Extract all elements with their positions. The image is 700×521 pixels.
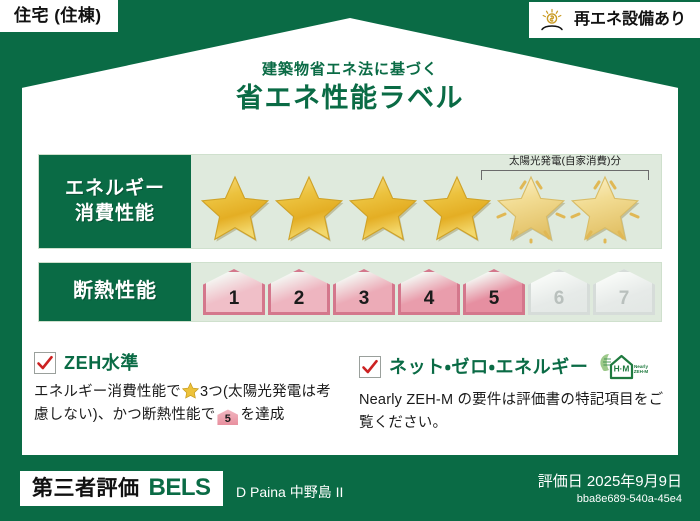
energy-rating-area: 太陽光発電(自家消費)分 <box>191 155 661 248</box>
bels-jp-label: 第三者評価 <box>32 478 140 499</box>
renewable-badge-label: 再エネ設備あり <box>574 12 686 28</box>
net-zero-title: ネット・ゼロ・エネルギー <box>389 358 588 376</box>
check-icon <box>35 353 55 373</box>
zeh-standard-note: ZEH水準 エネルギー消費性能で3つ(太陽光発電は考慮しない)、かつ断熱性能で5… <box>34 352 341 436</box>
net-zero-checkbox <box>359 356 381 378</box>
title-subtitle: 建築物省エネ法に基づく <box>0 62 700 79</box>
insulation-level-active: 3 <box>333 269 395 315</box>
zeh-standard-checkbox <box>34 352 56 374</box>
insulation-performance-label-box: 断熱性能 <box>39 263 191 321</box>
check-icon <box>360 357 380 377</box>
title-main: 省エネ性能ラベル <box>0 82 700 116</box>
evaluation-date: 評価日 2025年9月9日 <box>538 473 682 491</box>
project-name: D Paina 中野島 II <box>236 485 343 499</box>
insulation-label: 断熱性能 <box>73 279 157 305</box>
star-icon-filled <box>347 174 419 244</box>
energy-label-line1: エネルギー <box>65 177 165 201</box>
zeh-star-count: 3つ <box>200 384 223 400</box>
zeh-standard-text: エネルギー消費性能で3つ(太陽光発電は考慮しない)、かつ断熱性能で5を達成 <box>34 381 341 428</box>
insulation-level-inactive: 6 <box>528 269 590 315</box>
svg-text:ZEH-M: ZEH-M <box>634 369 649 374</box>
zeh-text-c: を達成 <box>240 407 284 423</box>
energy-performance-row: エネルギー 消費性能 太陽光発電(自家消費)分 <box>38 154 662 249</box>
star-icon-filled <box>199 174 271 244</box>
insulation-level-active: 1 <box>203 269 265 315</box>
zeh-standard-title: ZEH水準 <box>64 354 139 372</box>
insulation-level-active: 5 <box>463 269 525 315</box>
zeh-standard-heading: ZEH水準 <box>34 352 341 374</box>
insulation-performance-row: 断熱性能 1234567 <box>38 262 662 322</box>
bels-en-label: BELS <box>149 476 211 500</box>
evaluation-info: 評価日 2025年9月9日 bba8e689-540a-45e4 <box>538 473 682 506</box>
net-zero-heading: ネット・ゼロ・エネルギー H·M Nearly ZEH-M <box>359 352 666 382</box>
zeh-text-a: エネルギー消費性能で <box>34 384 181 400</box>
insulation-level-group: 1234567 <box>191 263 661 321</box>
svg-text:H·M: H·M <box>614 364 630 374</box>
star-icon-filled <box>421 174 493 244</box>
label-title-block: 建築物省エネ法に基づく 省エネ性能ラベル <box>0 62 700 115</box>
inline-insulation-chip: 5 <box>217 409 238 425</box>
insulation-rating-area: 1234567 <box>191 263 661 321</box>
notes-section: ZEH水準 エネルギー消費性能で3つ(太陽光発電は考慮しない)、かつ断熱性能で5… <box>34 352 666 436</box>
insulation-level-inactive: 7 <box>593 269 655 315</box>
house-type-tag: 住宅 (住棟) <box>0 0 118 32</box>
energy-label-line2: 消費性能 <box>75 202 155 226</box>
inline-star-icon <box>182 382 199 399</box>
star-icon-solar <box>569 174 641 244</box>
solar-portion-caption: 太陽光発電(自家消費)分 <box>479 156 651 168</box>
renewable-energy-badge: 再エネ設備あり <box>529 2 700 38</box>
label-footer: 第三者評価 BELS D Paina 中野島 II 評価日 2025年9月9日 … <box>0 459 700 521</box>
evaluation-id: bba8e689-540a-45e4 <box>538 493 682 506</box>
energy-performance-label: 住宅 (住棟) 再エネ設備あり 建築物省エネ法に基づく 省エネ性能ラベル エネル… <box>0 0 700 521</box>
net-zero-energy-note: ネット・ゼロ・エネルギー H·M Nearly ZEH-M Nearly ZEH… <box>359 352 666 436</box>
sun-solar-icon <box>539 8 565 32</box>
net-zero-text: Nearly ZEH-M の要件は評価書の特記項目をご覧ください。 <box>359 389 666 436</box>
star-icon-filled <box>273 174 345 244</box>
star-icon-solar <box>495 174 567 244</box>
star-rating-group <box>199 171 657 246</box>
zeh-m-logo-icon: H·M Nearly ZEH-M <box>598 352 650 382</box>
bels-certification-box: 第三者評価 BELS <box>20 471 223 506</box>
insulation-level-active: 4 <box>398 269 460 315</box>
insulation-level-active: 2 <box>268 269 330 315</box>
energy-performance-label-box: エネルギー 消費性能 <box>39 155 191 248</box>
